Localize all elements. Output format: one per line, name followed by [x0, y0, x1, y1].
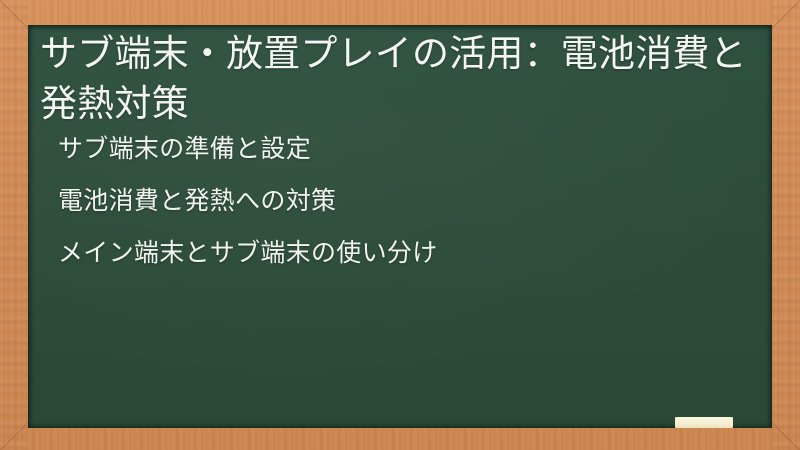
list-item: 電池消費と発熱への対策 [58, 189, 758, 214]
list-item: サブ端末の準備と設定 [58, 137, 758, 162]
chalk-stick-icon [675, 417, 733, 428]
frame-rail-right [772, 0, 800, 450]
chalkboard-slide: サブ端末・放置プレイの活用：電池消費と発熱対策 サブ端末の準備と設定 電池消費と… [0, 0, 800, 450]
chalkboard-surface: サブ端末・放置プレイの活用：電池消費と発熱対策 サブ端末の準備と設定 電池消費と… [28, 25, 772, 428]
topic-list: サブ端末の準備と設定 電池消費と発熱への対策 メイン端末とサブ端末の使い分け [58, 137, 758, 293]
frame-rail-left [0, 0, 28, 450]
page-title: サブ端末・放置プレイの活用：電池消費と発熱対策 [40, 29, 756, 130]
list-item: メイン端末とサブ端末の使い分け [58, 241, 758, 266]
